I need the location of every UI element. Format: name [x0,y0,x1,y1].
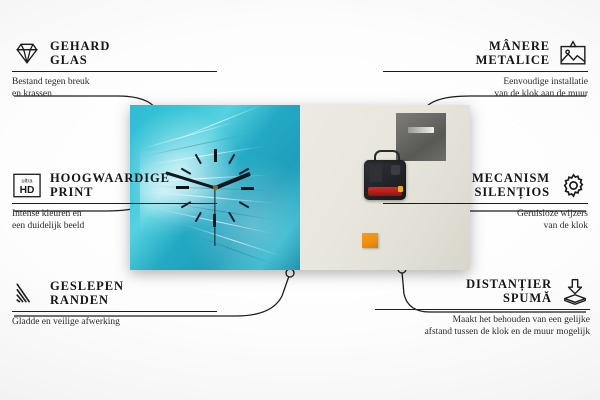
divider [383,71,588,72]
spacer-arrow-icon [560,276,590,306]
divider [12,203,217,204]
feature-subtitle: Geruisloze wijzers van de klok [383,208,588,232]
feature-title: MÂNERE METALICE [476,39,550,67]
feature-manere-metalice: MÂNERE METALICE Eenvoudige installatie v… [383,38,588,100]
diamond-icon [12,38,42,68]
feature-geslepen-randen: GESLEPEN RANDEN Gladde en veilige afwerk… [12,278,217,328]
leader-endpoint-geslepen-randen [286,269,294,277]
feature-subtitle: Eenvoudige installatie van de klok aan d… [383,76,588,100]
feature-subtitle: Intense kleuren en een duidelijk beeld [12,208,217,232]
divider [383,203,588,204]
feature-title: DISTANȚIER SPUMĂ [466,277,552,305]
feature-title: MECANISM SILENȚIOS [472,171,550,199]
feature-mecanism-silentios: MECANISM SILENȚIOS Geruisloze wijzers va… [383,170,588,232]
feature-subtitle: Bestand tegen breuk en krassen [12,76,217,100]
beveled-edges-icon [12,278,42,308]
feature-distantier-spuma: DISTANȚIER SPUMĂ Maakt het behouden van … [375,276,590,338]
feature-gehard-glas: GEHARD GLAS Bestand tegen breuk en krass… [12,38,217,100]
feature-subtitle: Maakt het behouden van een gelijke afsta… [375,314,590,338]
feature-hoogwaardige-print: ultra HD HOOGWAARDIGE PRINT Intense kleu… [12,170,217,232]
infographic-canvas: GEHARD GLAS Bestand tegen breuk en krass… [0,0,600,400]
feature-title: HOOGWAARDIGE PRINT [50,171,170,199]
divider [12,71,217,72]
foam-spacer [362,233,378,248]
svg-text:ultra: ultra [22,178,34,184]
feature-subtitle: Gladde en veilige afwerking [12,316,217,328]
metal-hanger-closeup [396,113,446,161]
ultra-hd-icon: ultra HD [12,170,42,200]
picture-frame-icon [558,38,588,68]
feature-title: GESLEPEN RANDEN [50,279,124,307]
gear-icon [558,170,588,200]
svg-text:HD: HD [20,184,35,195]
feature-title: GEHARD GLAS [50,39,110,67]
divider [375,309,590,310]
divider [12,311,217,312]
